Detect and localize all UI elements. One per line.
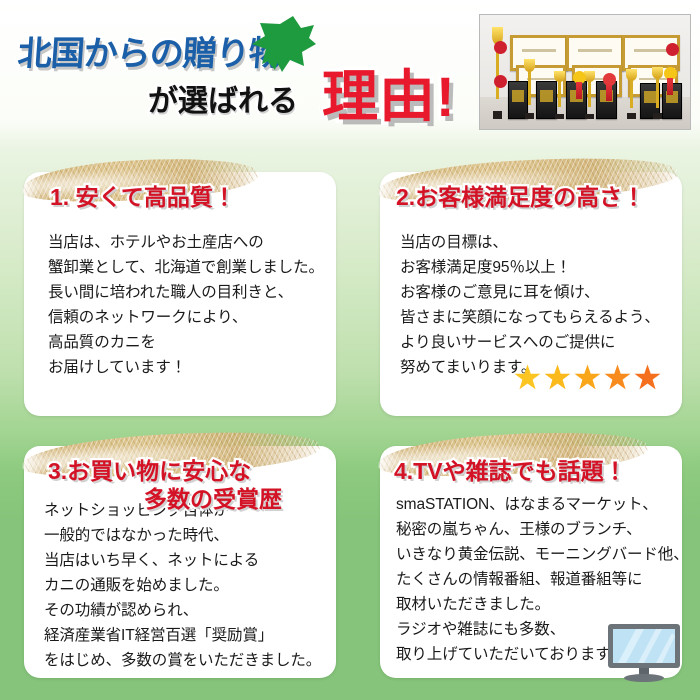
television-icon bbox=[604, 622, 684, 684]
award-rosette bbox=[666, 43, 679, 56]
card-3-body: ネットショッピング自体が 一般的ではなかった時代、 当店はいち早く、ネットによる… bbox=[44, 498, 321, 673]
header-subtitle: が選ばれる bbox=[148, 76, 298, 120]
promotional-banner: 北国からの贈り物 が選ばれる 理由! bbox=[0, 0, 700, 700]
award-rosette bbox=[664, 67, 677, 80]
card-2-body: 当店の目標は、 お客様満足度95％以上！ お客様のご意見に耳を傾け、 皆さまに笑… bbox=[400, 230, 660, 380]
card-1-title: 1. 安くて高品質！ bbox=[50, 178, 236, 212]
card-3-title-line2: 多数の受賞歴 bbox=[144, 480, 282, 514]
star-rating bbox=[514, 364, 661, 391]
awards-trophies-photo bbox=[479, 14, 691, 130]
star-icon bbox=[604, 364, 631, 391]
store-logo-text: 北国からの贈り物 bbox=[16, 26, 283, 75]
banner-header: 北国からの贈り物 が選ばれる 理由! bbox=[0, 0, 700, 140]
card-4-title: 4.TVや雑誌でも話題！ bbox=[394, 452, 627, 486]
star-icon bbox=[514, 364, 541, 391]
award-rosette bbox=[573, 71, 586, 84]
star-icon bbox=[574, 364, 601, 391]
star-icon bbox=[544, 364, 571, 391]
trophy bbox=[524, 59, 535, 119]
award-rosette bbox=[603, 73, 616, 86]
trophy bbox=[554, 71, 565, 119]
header-reason-text: 理由! bbox=[322, 52, 456, 133]
trophy bbox=[652, 67, 663, 119]
card-1-body: 当店は、ホテルやお土産店への 蟹卸業として、北海道で創業しました。 長い間に培わ… bbox=[48, 230, 324, 380]
hokkaido-map-icon bbox=[246, 14, 318, 80]
award-rosette bbox=[494, 75, 507, 88]
star-icon bbox=[634, 364, 661, 391]
store-logo: 北国からの贈り物 bbox=[18, 22, 318, 82]
card-2-title: 2.お客様満足度の高さ！ bbox=[396, 178, 645, 212]
award-rosette bbox=[494, 41, 507, 54]
trophy bbox=[626, 69, 637, 119]
